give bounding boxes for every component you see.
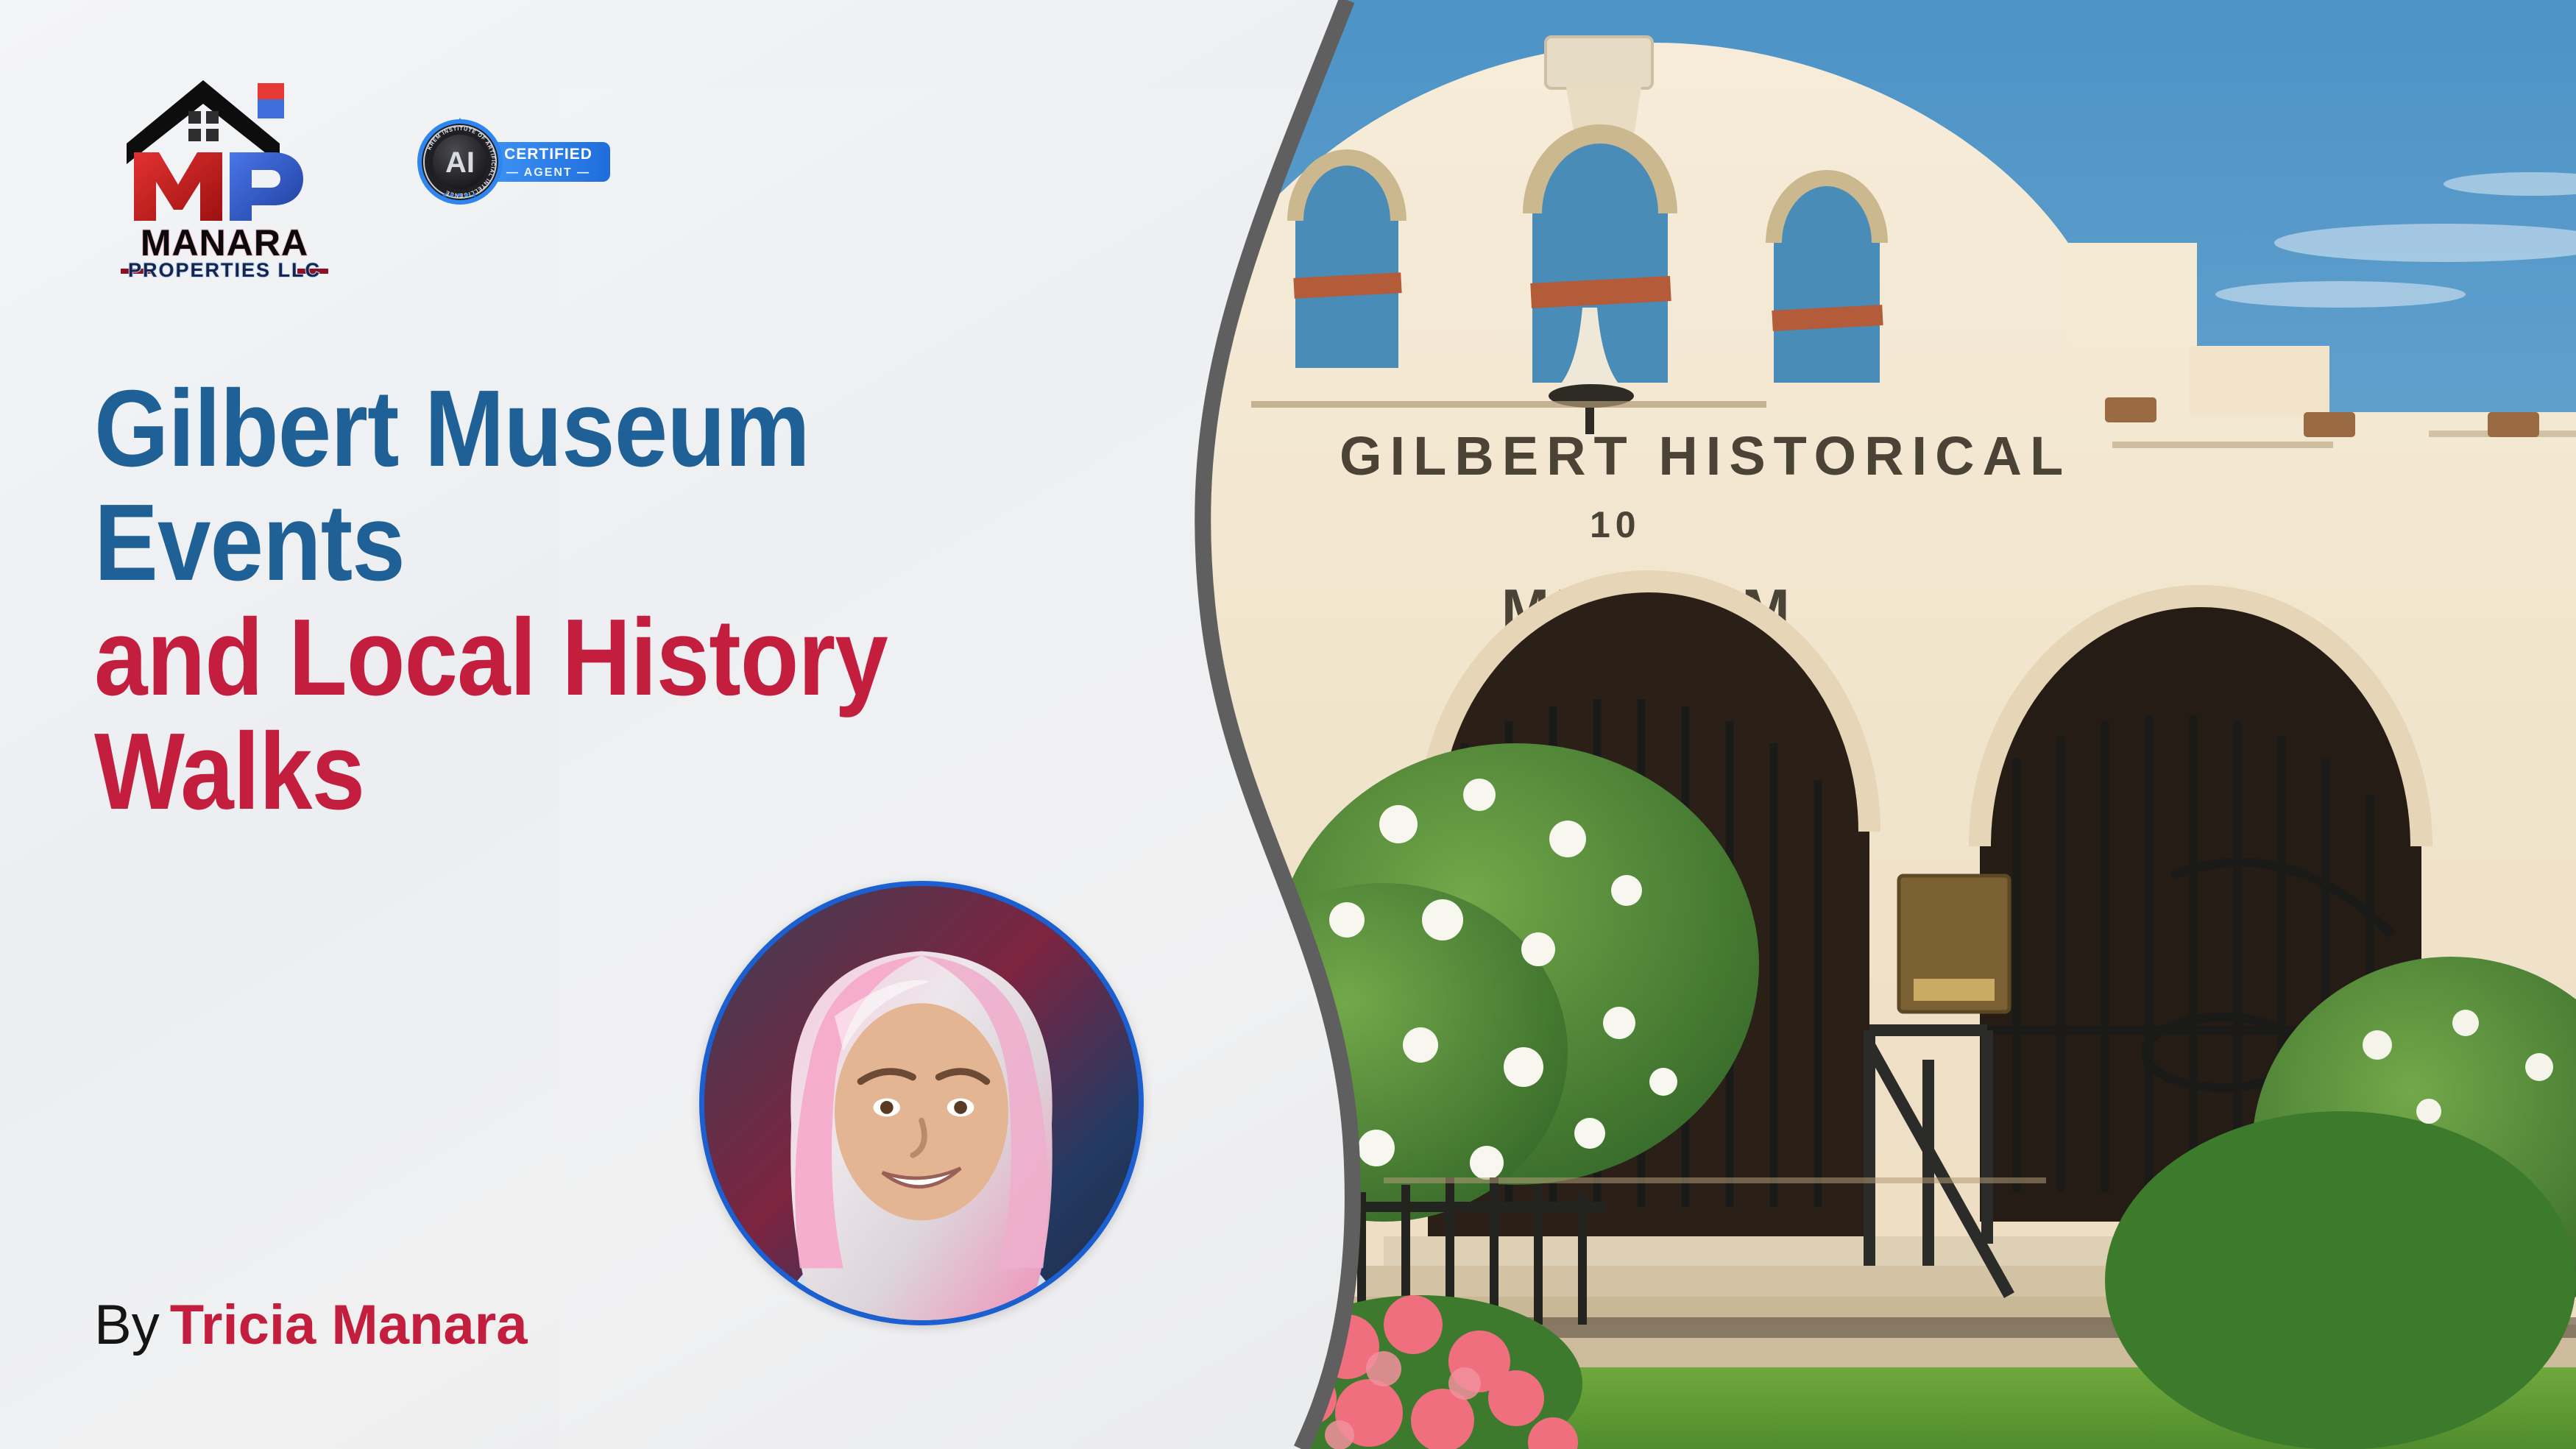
manara-properties-logo[interactable]: MANARA PROPERTIES LLC <box>110 70 339 280</box>
byline: ByTricia Manara <box>94 1297 528 1353</box>
page-title: Gilbert Museum Events and Local History … <box>94 372 1079 829</box>
svg-text:— AGENT —: — AGENT — <box>506 166 590 179</box>
svg-text:GILBERT HISTORICAL: GILBERT HISTORICAL <box>1340 425 2071 486</box>
headline-line-2: and Local History <box>94 600 1079 715</box>
svg-text:10: 10 <box>1590 504 1641 545</box>
byline-author: Tricia Manara <box>170 1294 528 1356</box>
article-banner: GILBERT HISTORICAL 10 MUSEUM <box>0 0 2576 1449</box>
ai-certified-agent-badge[interactable]: CERTIFIED — AGENT — KREM INSTITUTE OF AR… <box>416 118 618 206</box>
headline-line-1: Gilbert Museum Events <box>94 372 1079 600</box>
svg-text:PROPERTIES LLC: PROPERTIES LLC <box>128 259 321 280</box>
headline-line-3: Walks <box>94 715 1079 829</box>
author-avatar <box>699 881 1144 1325</box>
svg-text:AI: AI <box>445 146 475 179</box>
svg-text:CERTIFIED: CERTIFIED <box>504 146 592 163</box>
svg-text:MANARA: MANARA <box>141 222 308 263</box>
svg-text:★★★★★: ★★★★★ <box>442 191 478 199</box>
byline-prefix: By <box>94 1294 160 1356</box>
